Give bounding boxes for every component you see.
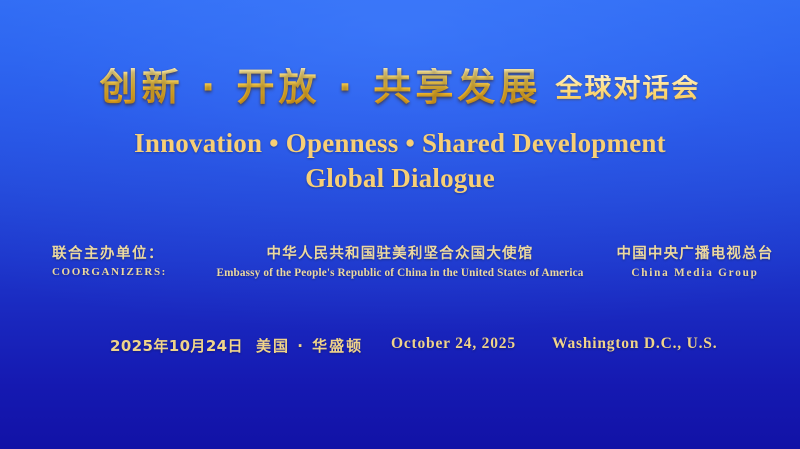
english-title-line-2: Global Dialogue [0, 163, 800, 194]
event-meta-row: 2025年10月24日 美国 · 华盛顿 October 24, 2025 Wa… [0, 335, 800, 357]
event-title-slide: 创新 · 开放 · 共享发展全球对话会 Innovation • Opennes… [0, 0, 800, 449]
chinese-main-title: 创新 · 开放 · 共享发展 [100, 68, 542, 106]
english-title-line-1: Innovation • Openness • Shared Developme… [0, 128, 800, 159]
coorganizers-label-cn: 联合主办单位： [52, 245, 202, 263]
event-date-cn: 2025年10月24日 [110, 335, 243, 356]
coorganizer-embassy-name-en: Embassy of the People's Republic of Chin… [190, 266, 610, 280]
event-place-cn: 美国 · 华盛顿 [256, 335, 363, 356]
coorganizer-embassy-name-cn: 中华人民共和国驻美利坚合众国大使馆 [190, 245, 610, 263]
event-date-en: October 24, 2025 [391, 335, 516, 353]
coorganizer-embassy: 中华人民共和国驻美利坚合众国大使馆 Embassy of the People'… [190, 245, 610, 280]
chinese-title-row: 创新 · 开放 · 共享发展全球对话会 [0, 68, 800, 106]
coorganizers-label: 联合主办单位： COORGANIZERS: [52, 245, 202, 280]
coorganizer-cmg-name-cn: 中国中央广播电视总台 [600, 245, 790, 263]
chinese-subtitle: 全球对话会 [555, 75, 700, 102]
event-place-en: Washington D.C., U.S. [552, 335, 717, 353]
coorganizer-cmg-name-en: China Media Group [600, 266, 790, 280]
coorganizers-band: 联合主办单位： COORGANIZERS: 中华人民共和国驻美利坚合众国大使馆 … [0, 243, 800, 289]
coorganizers-label-en: COORGANIZERS: [52, 266, 202, 280]
coorganizer-china-media-group: 中国中央广播电视总台 China Media Group [600, 245, 790, 280]
